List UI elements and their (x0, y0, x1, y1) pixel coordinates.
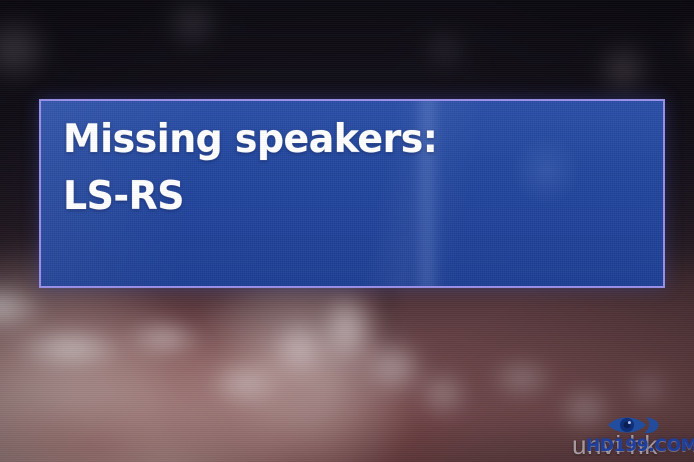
osd-dialog: Missing speakers: LS-RS (39, 99, 665, 288)
background-stage-highlights (0, 262, 694, 462)
tv-screen: Missing speakers: LS-RS unvi hk HD199.CO… (0, 0, 694, 462)
osd-text-block: Missing speakers: LS-RS (63, 111, 653, 225)
osd-message-line-1: Missing speakers: (63, 111, 635, 168)
osd-message-line-2: LS-RS (63, 168, 635, 225)
